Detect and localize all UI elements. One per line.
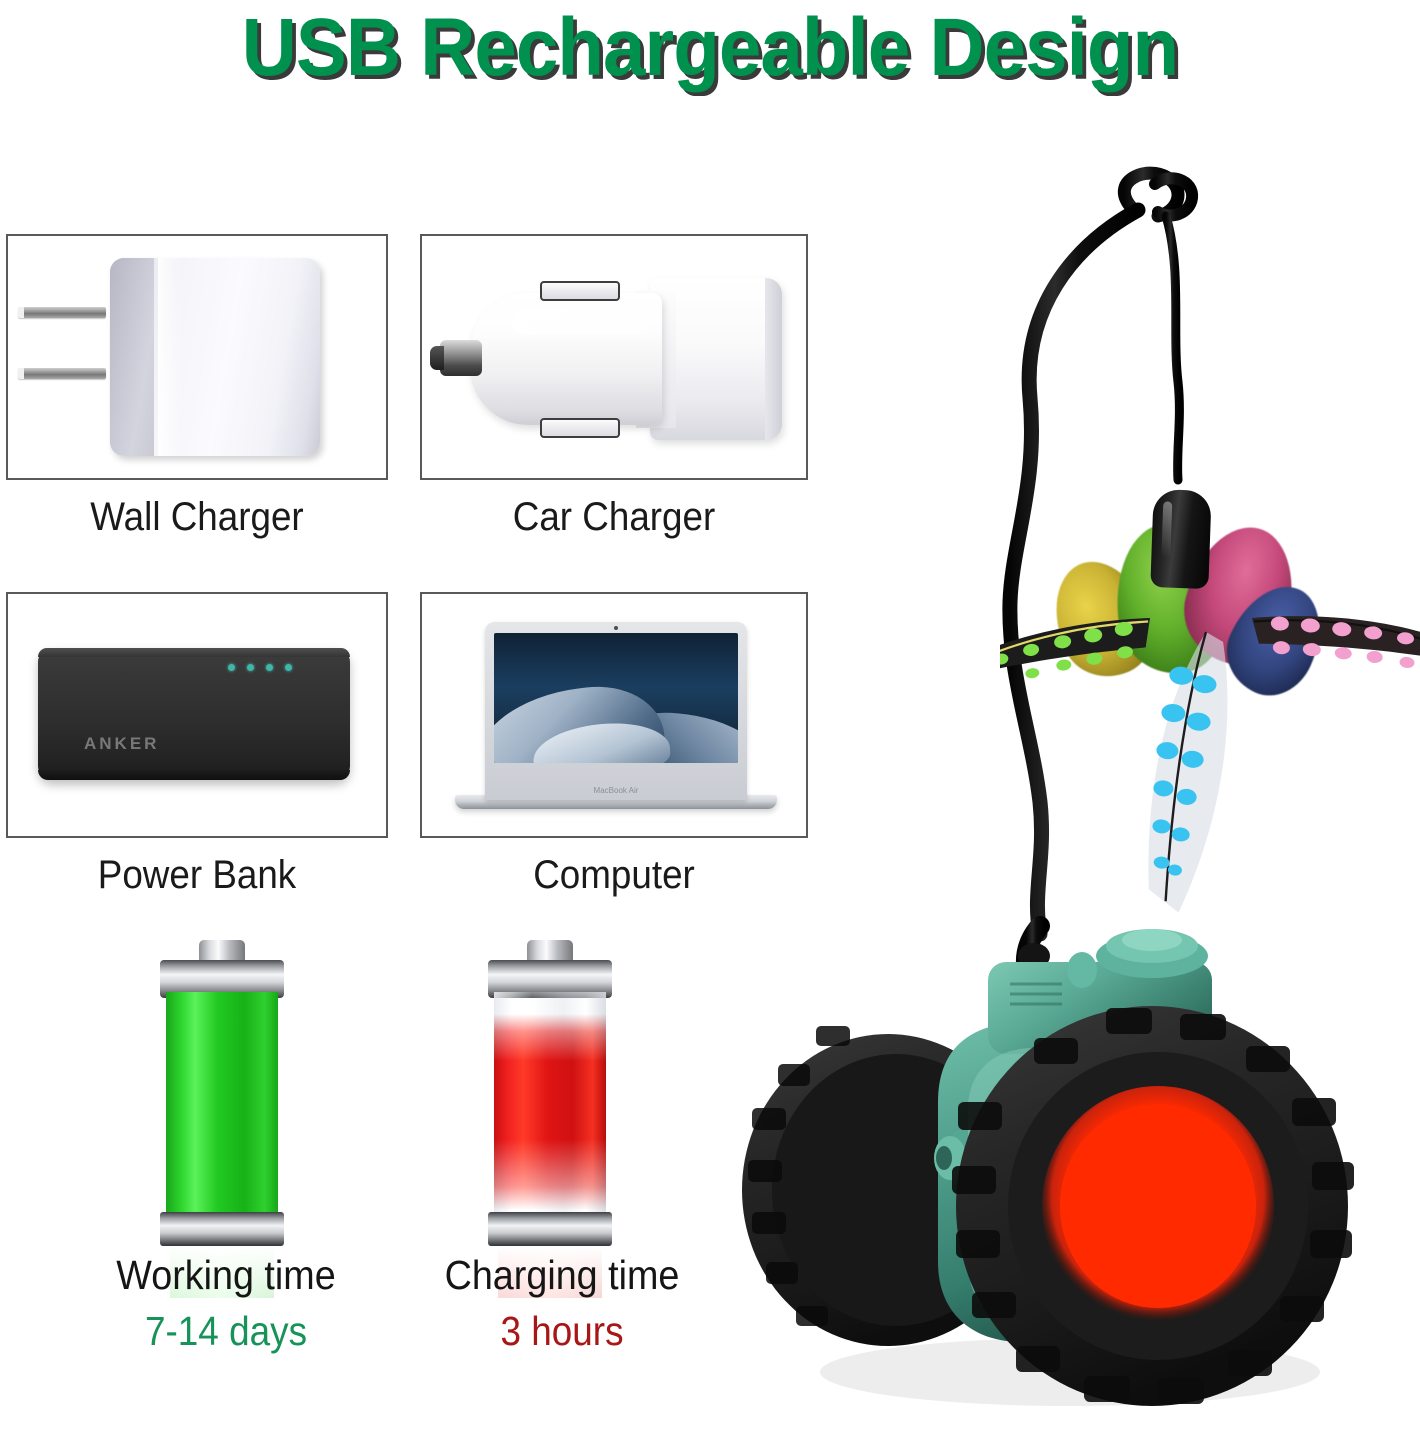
power-bank-icon: ANKER xyxy=(38,648,350,780)
battery-spec-charging-time: Charging time 3 hours xyxy=(372,1252,752,1355)
wall-charger-icon xyxy=(110,258,320,456)
battery-spec-working-time: Working time 7-14 days xyxy=(36,1252,416,1355)
battery-fill-partial xyxy=(494,1014,606,1210)
robot-body-icon xyxy=(700,150,1420,1448)
power-bank-brand-logo: ANKER xyxy=(84,734,159,754)
charging-source-card-wall-charger xyxy=(6,234,388,480)
power-bank-led-indicators xyxy=(228,664,292,671)
battery-spec-value: 7-14 days xyxy=(55,1308,397,1355)
power-bank-top-edge xyxy=(38,648,350,657)
power-bank-led-1 xyxy=(228,664,235,671)
battery-bottom-cap xyxy=(160,1212,284,1246)
power-bank-led-2 xyxy=(247,664,254,671)
car-charger-icon xyxy=(470,293,662,425)
power-bank-bottom-edge xyxy=(38,770,350,780)
laptop-camera-icon xyxy=(614,626,618,630)
wall-charger-prong-top xyxy=(18,307,106,318)
battery-spec-value: 3 hours xyxy=(391,1308,733,1355)
car-charger-contact-clip-bottom xyxy=(540,418,620,438)
battery-spec-label: Charging time xyxy=(387,1252,737,1299)
battery-bottom-cap xyxy=(488,1212,612,1246)
car-charger-gloss xyxy=(512,309,644,335)
car-charger-contact-clip-top xyxy=(540,281,620,301)
power-bank-led-4 xyxy=(285,664,292,671)
wall-charger-seam xyxy=(110,258,154,456)
battery-tube xyxy=(166,992,278,1220)
battery-spec-label: Working time xyxy=(51,1252,401,1299)
charging-source-label-wall-charger: Wall Charger xyxy=(21,495,372,540)
charging-source-label-power-bank: Power Bank xyxy=(21,853,372,898)
battery-fill-full xyxy=(166,992,278,1220)
page-title: USB Rechargeable Design xyxy=(50,4,1371,94)
wall-charger-prong-bottom xyxy=(18,368,106,379)
product-photo-cat-toy-robot xyxy=(700,150,1420,1448)
power-bank-led-3 xyxy=(266,664,273,671)
car-charger-tip xyxy=(440,340,482,376)
wall-charger-gloss xyxy=(158,258,184,456)
front-wheel xyxy=(952,1006,1354,1406)
battery-tube xyxy=(494,992,606,1220)
